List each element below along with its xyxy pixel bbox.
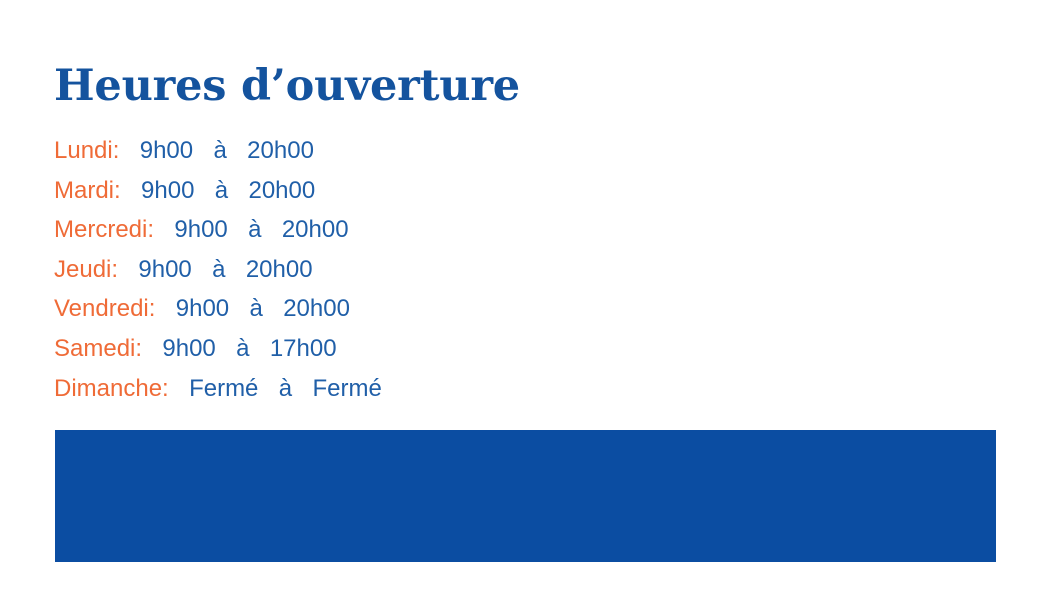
- opening-hours-list: Lundi: 9h00 à 20h00 Mardi: 9h00 à 20h00 …: [54, 131, 574, 408]
- close-time: 20h00: [247, 137, 314, 164]
- open-time: 9h00: [141, 177, 194, 204]
- day-label: Mardi:: [54, 177, 121, 204]
- time-separator: à: [213, 137, 226, 164]
- close-time: 17h00: [270, 335, 337, 362]
- bottom-blue-band: [55, 430, 996, 562]
- day-label: Samedi:: [54, 335, 142, 362]
- page-title: Heures d’ouverture: [54, 61, 520, 111]
- open-time: 9h00: [174, 216, 227, 243]
- day-label: Lundi:: [54, 137, 119, 164]
- list-item: Lundi: 9h00 à 20h00: [54, 131, 574, 171]
- close-time: 20h00: [246, 256, 313, 283]
- open-time: 9h00: [176, 295, 229, 322]
- close-time: Fermé: [312, 375, 381, 402]
- list-item: Mercredi: 9h00 à 20h00: [54, 210, 574, 250]
- time-separator: à: [279, 375, 292, 402]
- close-time: 20h00: [248, 177, 315, 204]
- close-time: 20h00: [282, 216, 349, 243]
- day-label: Jeudi:: [54, 256, 118, 283]
- day-label: Dimanche:: [54, 375, 169, 402]
- time-separator: à: [236, 335, 249, 362]
- list-item: Vendredi: 9h00 à 20h00: [54, 289, 574, 329]
- slide-canvas: Heures d’ouverture Lundi: 9h00 à 20h00 M…: [0, 0, 1050, 600]
- time-separator: à: [215, 177, 228, 204]
- list-item: Dimanche: Fermé à Fermé: [54, 369, 574, 409]
- open-time: Fermé: [189, 375, 258, 402]
- time-separator: à: [212, 256, 225, 283]
- day-label: Vendredi:: [54, 295, 155, 322]
- open-time: 9h00: [138, 256, 191, 283]
- list-item: Mardi: 9h00 à 20h00: [54, 171, 574, 211]
- time-separator: à: [250, 295, 263, 322]
- list-item: Samedi: 9h00 à 17h00: [54, 329, 574, 369]
- list-item: Jeudi: 9h00 à 20h00: [54, 250, 574, 290]
- open-time: 9h00: [162, 335, 215, 362]
- open-time: 9h00: [140, 137, 193, 164]
- time-separator: à: [248, 216, 261, 243]
- day-label: Mercredi:: [54, 216, 154, 243]
- close-time: 20h00: [283, 295, 350, 322]
